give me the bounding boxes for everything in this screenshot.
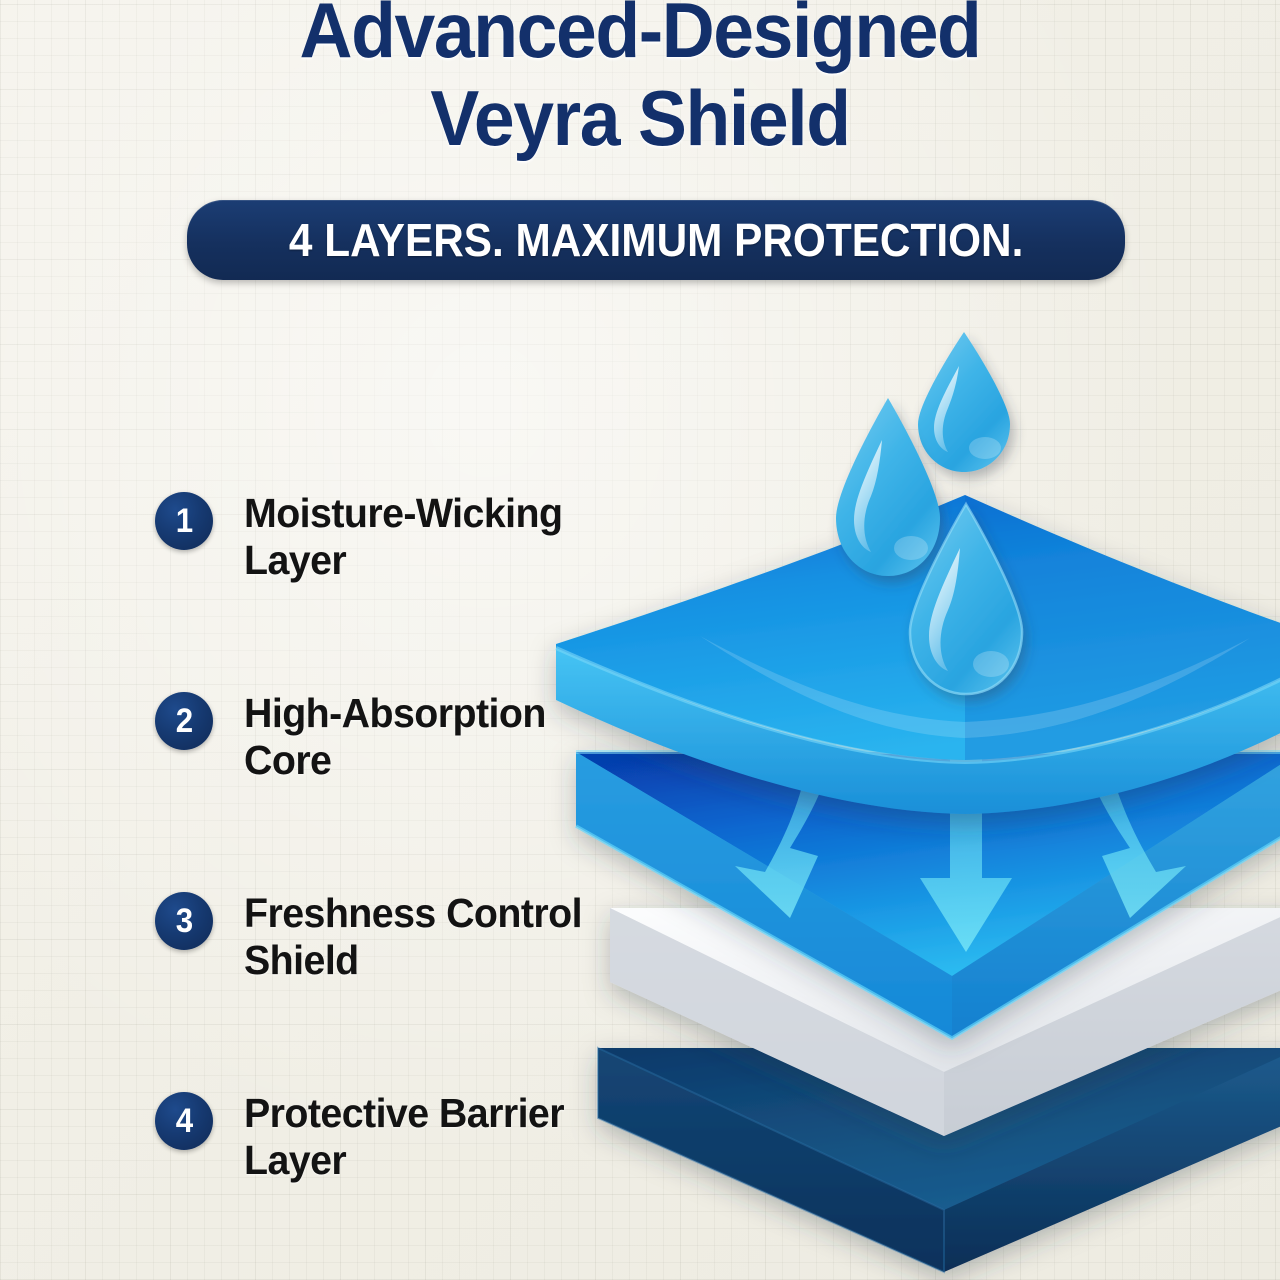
- layer-legend-list: 1 Moisture-Wicking Layer 2 High-Absorpti…: [155, 490, 625, 1280]
- layer-number-3: 3: [175, 904, 192, 938]
- droplet-top-right: [918, 332, 1010, 472]
- droplet-center: [910, 504, 1022, 694]
- subtitle-badge: 4 LAYERS. MAXIMUM PROTECTION.: [187, 200, 1125, 280]
- list-item-layer-2: 2 High-Absorption Core: [155, 690, 625, 890]
- slab-barrier: [598, 1048, 1280, 1272]
- subtitle-text: 4 LAYERS. MAXIMUM PROTECTION.: [289, 213, 1023, 267]
- layer-label-4: Protective Barrier Layer: [244, 1090, 610, 1184]
- droplet-left: [836, 398, 940, 576]
- layer-number-badge-1: 1: [155, 492, 213, 550]
- absorption-arrows: [735, 690, 1186, 952]
- list-item-layer-1: 1 Moisture-Wicking Layer: [155, 490, 625, 690]
- layer-number-badge-2: 2: [155, 692, 213, 750]
- list-item-layer-4: 4 Protective Barrier Layer: [155, 1090, 625, 1280]
- slab-absorption-core: [576, 752, 1280, 1038]
- layer-label-1: Moisture-Wicking Layer: [244, 490, 610, 584]
- layer-number-badge-4: 4: [155, 1092, 213, 1150]
- layer-number-badge-3: 3: [155, 892, 213, 950]
- layer-number-4: 4: [175, 1104, 192, 1138]
- poster-header: Advanced-Designed Veyra Shield: [0, 0, 1280, 162]
- absorption-arrow-right: [1068, 690, 1186, 918]
- list-item-layer-3: 3 Freshness Control Shield: [155, 890, 625, 1090]
- slab-moisture-wicking: [556, 495, 1280, 814]
- page-title-line-1: Advanced-Designed: [38, 0, 1241, 74]
- page-title-line-2: Veyra Shield: [38, 74, 1241, 162]
- layer-label-3: Freshness Control Shield: [244, 890, 610, 984]
- absorption-arrow-left: [735, 690, 845, 918]
- layer-number-2: 2: [175, 704, 192, 738]
- layer-number-1: 1: [175, 504, 192, 538]
- infographic-poster: Advanced-Designed Veyra Shield 4 LAYERS.…: [0, 0, 1280, 1280]
- slab-freshness-shield: [610, 908, 1280, 1136]
- absorption-arrow-center: [920, 690, 1012, 952]
- layer-label-2: High-Absorption Core: [244, 690, 610, 784]
